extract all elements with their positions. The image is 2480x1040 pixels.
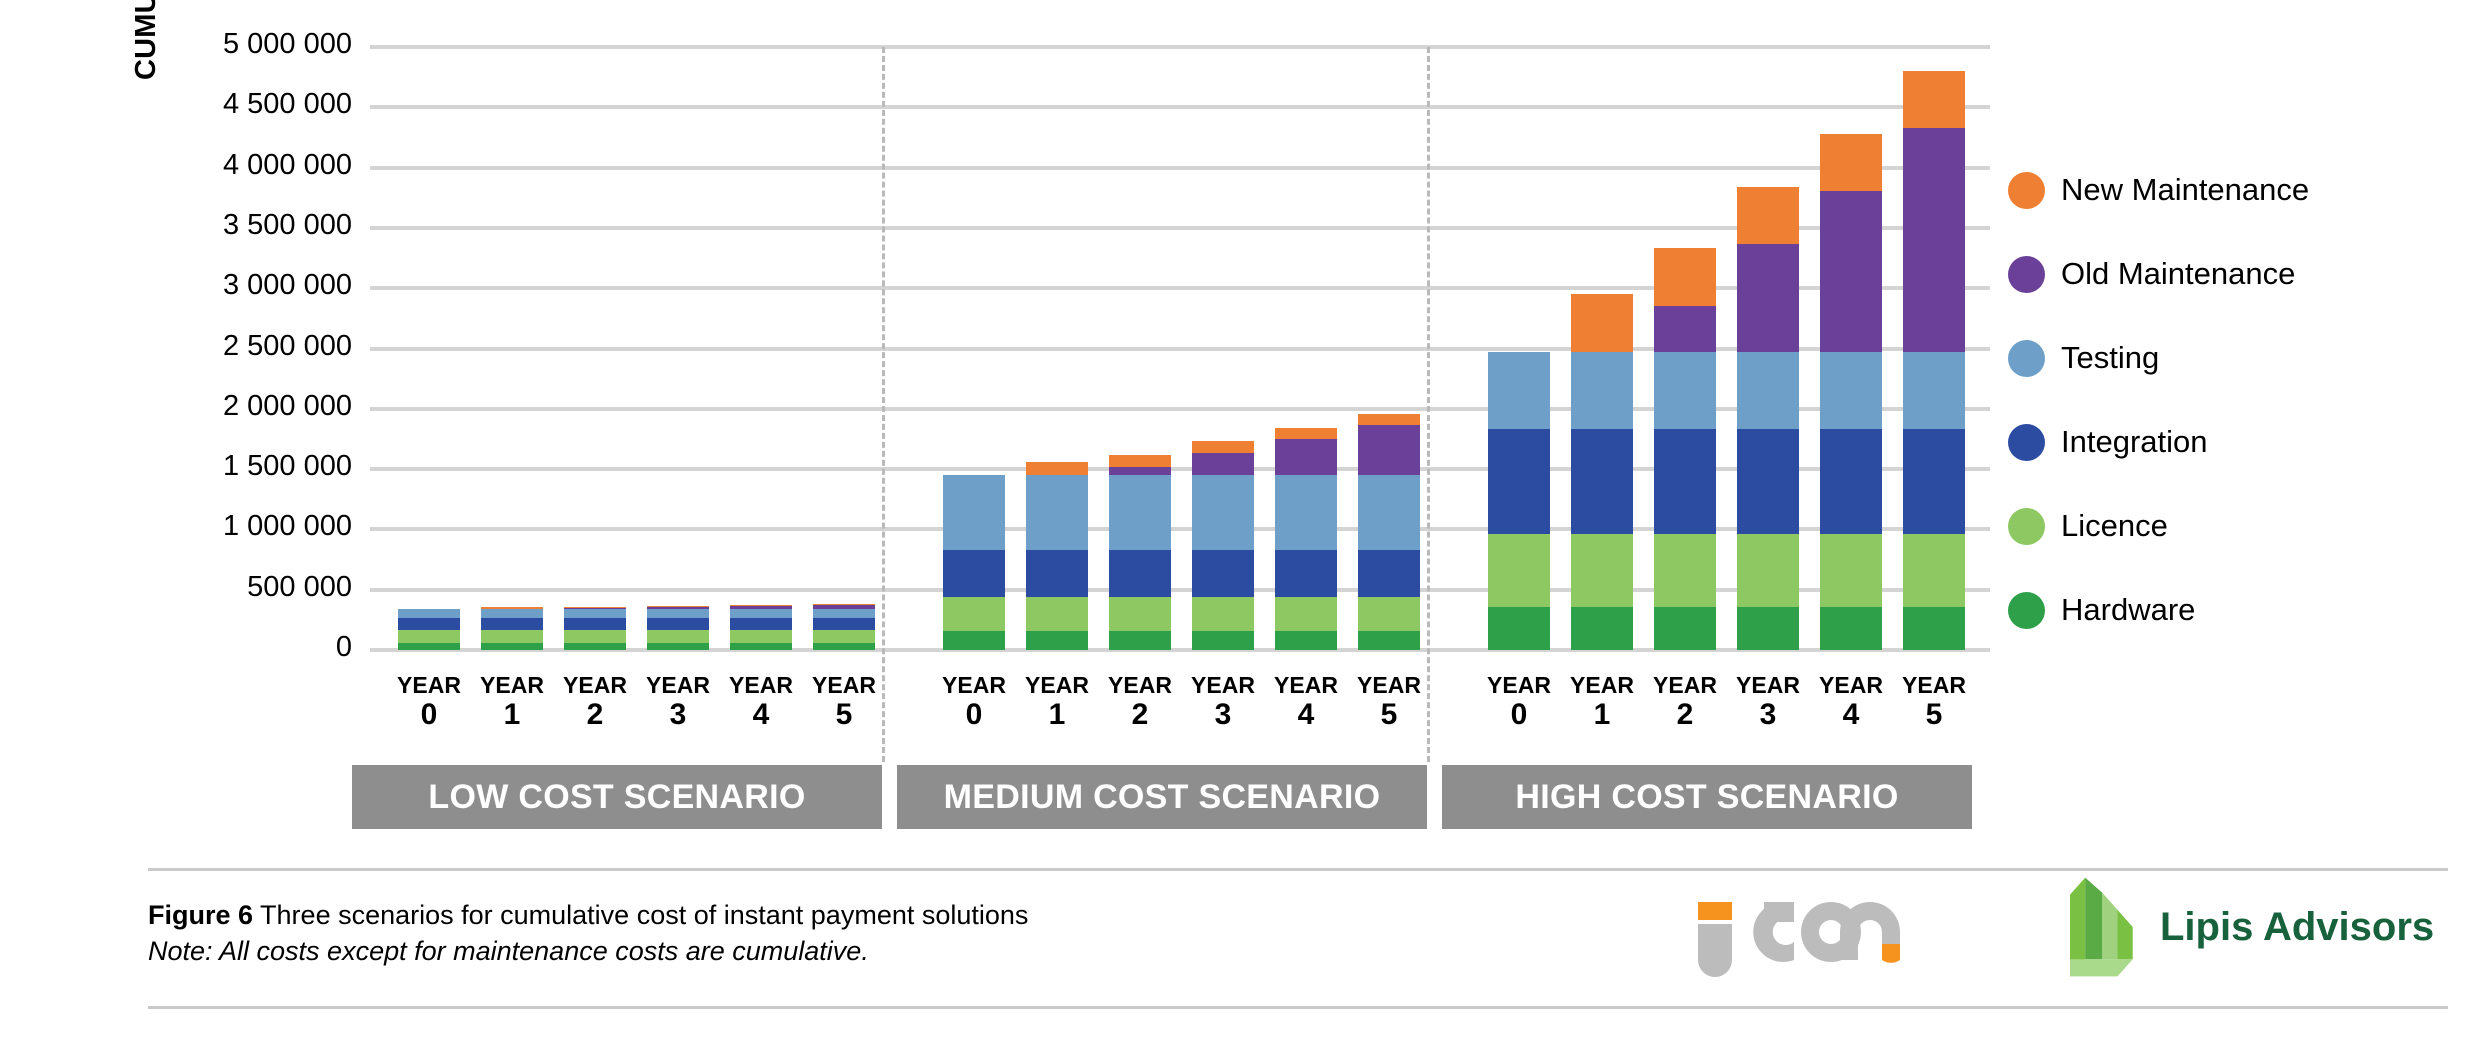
x-label-line1: YEAR	[1274, 672, 1338, 698]
bar-segment-licence	[1109, 597, 1171, 631]
bar-segment-old-maintenance	[1109, 467, 1171, 475]
gridline	[370, 166, 1990, 170]
bar-segment-licence	[1488, 534, 1550, 606]
bar-segment-licence	[1737, 534, 1799, 606]
x-label-line1: YEAR	[1025, 672, 1089, 698]
y-axis-tick-label: 3 000 000	[162, 271, 352, 300]
x-label-line1: YEAR	[646, 672, 710, 698]
y-axis-tick-label: 3 500 000	[162, 211, 352, 240]
bar-segment-testing	[1275, 475, 1337, 550]
x-label-line1: YEAR	[1653, 672, 1717, 698]
bar-segment-integration	[647, 618, 709, 629]
bar-segment-new-maintenance	[1820, 134, 1882, 191]
legend-item[interactable]: Testing	[2008, 316, 2468, 400]
x-label-line1: YEAR	[729, 672, 793, 698]
x-label-line1: YEAR	[1819, 672, 1883, 698]
legend-label: Integration	[2061, 424, 2208, 460]
x-axis-tick-label: YEAR5	[789, 672, 899, 733]
bar-stack	[943, 475, 1005, 650]
bar-segment-integration	[1275, 550, 1337, 597]
legend-label: New Maintenance	[2061, 172, 2309, 208]
bar-stack	[398, 609, 460, 650]
bar-segment-licence	[1903, 534, 1965, 606]
bar-segment-testing	[564, 609, 626, 618]
icon-logo: icon	[1690, 872, 1950, 982]
bar-segment-new-maintenance	[1275, 428, 1337, 439]
y-axis-tick-label: 5 000 000	[162, 30, 352, 59]
bar-segment-hardware	[1109, 631, 1171, 650]
x-label-line1: YEAR	[1902, 672, 1966, 698]
bar-segment-old-maintenance	[1275, 439, 1337, 475]
bar-segment-hardware	[1820, 607, 1882, 650]
x-label-line1: YEAR	[563, 672, 627, 698]
legend-item[interactable]: Hardware	[2008, 568, 2468, 652]
bar-segment-integration	[1358, 550, 1420, 597]
bar-segment-testing	[1571, 352, 1633, 429]
bar-stack	[1109, 455, 1171, 650]
bar-segment-testing	[1026, 475, 1088, 550]
x-label-line1: YEAR	[1736, 672, 1800, 698]
x-axis-tick-label: YEAR5	[1334, 672, 1444, 733]
bar-stack	[1275, 428, 1337, 650]
bar-stack	[481, 607, 543, 650]
bar-segment-new-maintenance	[1192, 441, 1254, 453]
bar-stack	[647, 606, 709, 650]
gridline	[370, 105, 1990, 109]
legend-swatch-icon	[2008, 424, 2045, 461]
bar-segment-testing	[730, 609, 792, 618]
bar-segment-testing	[1820, 352, 1882, 429]
bar-segment-testing	[398, 609, 460, 618]
bar-segment-licence	[647, 630, 709, 643]
bar-segment-new-maintenance	[1903, 71, 1965, 128]
bar-segment-new-maintenance	[1737, 187, 1799, 244]
bar-segment-hardware	[1737, 607, 1799, 650]
bar-stack	[1026, 462, 1088, 650]
bar-segment-old-maintenance	[1192, 453, 1254, 475]
bar-segment-integration	[1026, 550, 1088, 597]
legend-swatch-icon	[2008, 340, 2045, 377]
y-axis-title: CUMULATIVE COST IN EUROS	[126, 0, 166, 80]
bar-segment-hardware	[943, 631, 1005, 650]
bar-segment-integration	[813, 618, 875, 629]
scenario-band-low: LOW COST SCENARIO	[352, 765, 882, 829]
bar-segment-hardware	[398, 643, 460, 650]
bar-segment-hardware	[1275, 631, 1337, 650]
figure-caption: Figure 6 Three scenarios for cumulative …	[148, 898, 1448, 969]
bar-segment-new-maintenance	[1654, 248, 1716, 306]
divider-top	[148, 868, 2448, 871]
bar-stack	[1654, 248, 1716, 650]
bar-segment-licence	[398, 630, 460, 643]
bar-stack	[1903, 71, 1965, 650]
bar-segment-new-maintenance	[1109, 455, 1171, 468]
bar-segment-integration	[564, 618, 626, 629]
divider-bottom	[148, 1006, 2448, 1009]
legend-swatch-icon	[2008, 256, 2045, 293]
bar-segment-old-maintenance	[1358, 425, 1420, 476]
bar-segment-new-maintenance	[1358, 414, 1420, 425]
bar-segment-old-maintenance	[1654, 306, 1716, 352]
figure-title: Three scenarios for cumulative cost of i…	[260, 900, 1028, 930]
bar-segment-hardware	[1654, 607, 1716, 650]
figure-number: Figure 6	[148, 900, 253, 930]
bar-segment-licence	[813, 630, 875, 643]
bar-segment-licence	[1654, 534, 1716, 606]
bar-segment-integration	[1737, 429, 1799, 534]
bar-segment-hardware	[813, 643, 875, 650]
bar-segment-new-maintenance	[1026, 462, 1088, 475]
bar-segment-licence	[1026, 597, 1088, 631]
legend-swatch-icon	[2008, 508, 2045, 545]
figure-root: CUMULATIVE COST IN EUROS 5 000 0004 500 …	[0, 0, 2480, 1040]
bar-stack	[1737, 187, 1799, 650]
bar-segment-testing	[1903, 352, 1965, 429]
bar-segment-integration	[943, 550, 1005, 597]
bar-segment-integration	[1820, 429, 1882, 534]
bar-stack	[1571, 294, 1633, 650]
bar-segment-testing	[481, 609, 543, 618]
bar-segment-integration	[730, 618, 792, 629]
y-axis-tick-label: 2 500 000	[162, 332, 352, 361]
y-axis-tick-label: 1 000 000	[162, 512, 352, 541]
bar-segment-integration	[1571, 429, 1633, 534]
x-label-line1: YEAR	[1570, 672, 1634, 698]
x-label-line2: 5	[1334, 698, 1444, 733]
bar-segment-hardware	[481, 643, 543, 650]
bar-segment-integration	[1903, 429, 1965, 534]
y-axis-tick-label: 1 500 000	[162, 452, 352, 481]
lipis-advisors-label: Lipis Advisors	[2160, 905, 2434, 950]
legend-item[interactable]: New Maintenance	[2008, 148, 2468, 232]
bar-segment-testing	[943, 475, 1005, 550]
legend-label: Hardware	[2061, 592, 2195, 628]
x-label-line1: YEAR	[1191, 672, 1255, 698]
bar-segment-hardware	[564, 643, 626, 650]
x-label-line1: YEAR	[1487, 672, 1551, 698]
bar-segment-testing	[1192, 475, 1254, 550]
bar-segment-hardware	[1571, 607, 1633, 650]
y-axis-title-label: CUMULATIVE COST IN EUROS	[126, 0, 166, 80]
bar-segment-hardware	[1903, 607, 1965, 650]
bar-segment-old-maintenance	[1737, 244, 1799, 353]
bar-segment-licence	[564, 630, 626, 643]
bar-segment-licence	[1358, 597, 1420, 631]
bar-segment-integration	[1109, 550, 1171, 597]
x-label-line1: YEAR	[397, 672, 461, 698]
scenario-band-medium: MEDIUM COST SCENARIO	[897, 765, 1427, 829]
y-axis-tick-label: 4 500 000	[162, 90, 352, 119]
bar-segment-integration	[1654, 429, 1716, 534]
scenario-band-high: HIGH COST SCENARIO	[1442, 765, 1972, 829]
bar-segment-old-maintenance	[1903, 128, 1965, 352]
bar-stack	[1192, 441, 1254, 650]
bar-segment-hardware	[1192, 631, 1254, 650]
legend-swatch-icon	[2008, 172, 2045, 209]
bar-segment-testing	[647, 609, 709, 618]
bar-stack	[730, 605, 792, 650]
bar-segment-testing	[1488, 352, 1550, 429]
y-axis-tick-label: 0	[162, 633, 352, 662]
bar-segment-testing	[813, 609, 875, 618]
bar-segment-testing	[1358, 475, 1420, 550]
bar-segment-integration	[1488, 429, 1550, 534]
bar-stack	[1488, 352, 1550, 650]
bar-segment-integration	[481, 618, 543, 629]
legend-item[interactable]: Old Maintenance	[2008, 232, 2468, 316]
bar-segment-new-maintenance	[1571, 294, 1633, 352]
y-axis-tick-label: 2 000 000	[162, 392, 352, 421]
legend-label: Testing	[2061, 340, 2159, 376]
bar-stack	[1358, 414, 1420, 650]
bar-segment-licence	[1820, 534, 1882, 606]
bar-segment-licence	[1571, 534, 1633, 606]
bar-segment-old-maintenance	[1820, 191, 1882, 353]
x-label-line1: YEAR	[1108, 672, 1172, 698]
bar-segment-licence	[730, 630, 792, 643]
bar-segment-hardware	[730, 643, 792, 650]
bar-segment-integration	[1192, 550, 1254, 597]
legend-label: Old Maintenance	[2061, 256, 2295, 292]
panel-separator-2	[1427, 47, 1430, 762]
x-label-line1: YEAR	[480, 672, 544, 698]
bar-segment-integration	[398, 618, 460, 629]
bar-segment-testing	[1109, 475, 1171, 550]
bar-segment-licence	[943, 597, 1005, 631]
bar-segment-hardware	[1488, 607, 1550, 650]
legend-item[interactable]: Licence	[2008, 484, 2468, 568]
y-axis-tick-label: 500 000	[162, 573, 352, 602]
legend: New MaintenanceOld MaintenanceTestingInt…	[2008, 148, 2468, 652]
plot-area	[370, 47, 1990, 650]
bar-segment-licence	[1192, 597, 1254, 631]
bar-segment-testing	[1737, 352, 1799, 429]
x-axis-tick-label: YEAR5	[1879, 672, 1989, 733]
figure-note: Note: All costs except for maintenance c…	[148, 934, 1448, 970]
x-label-line1: YEAR	[942, 672, 1006, 698]
x-label-line1: YEAR	[812, 672, 876, 698]
legend-label: Licence	[2061, 508, 2168, 544]
bar-segment-testing	[1654, 352, 1716, 429]
panel-separator-1	[882, 47, 885, 762]
legend-swatch-icon	[2008, 592, 2045, 629]
gridline	[370, 45, 1990, 49]
lipis-advisors-logo: Lipis Advisors	[2070, 872, 2450, 982]
legend-item[interactable]: Integration	[2008, 400, 2468, 484]
bar-segment-licence	[1275, 597, 1337, 631]
bar-segment-hardware	[1026, 631, 1088, 650]
lipis-mark-icon	[2070, 877, 2146, 977]
bar-segment-hardware	[647, 643, 709, 650]
bar-stack	[813, 604, 875, 650]
bar-segment-hardware	[1358, 631, 1420, 650]
y-axis-tick-label: 4 000 000	[162, 151, 352, 180]
bar-stack	[564, 607, 626, 650]
bar-stack	[1820, 134, 1882, 650]
x-label-line2: 5	[1879, 698, 1989, 733]
bar-segment-licence	[481, 630, 543, 643]
x-label-line2: 5	[789, 698, 899, 733]
x-label-line1: YEAR	[1357, 672, 1421, 698]
